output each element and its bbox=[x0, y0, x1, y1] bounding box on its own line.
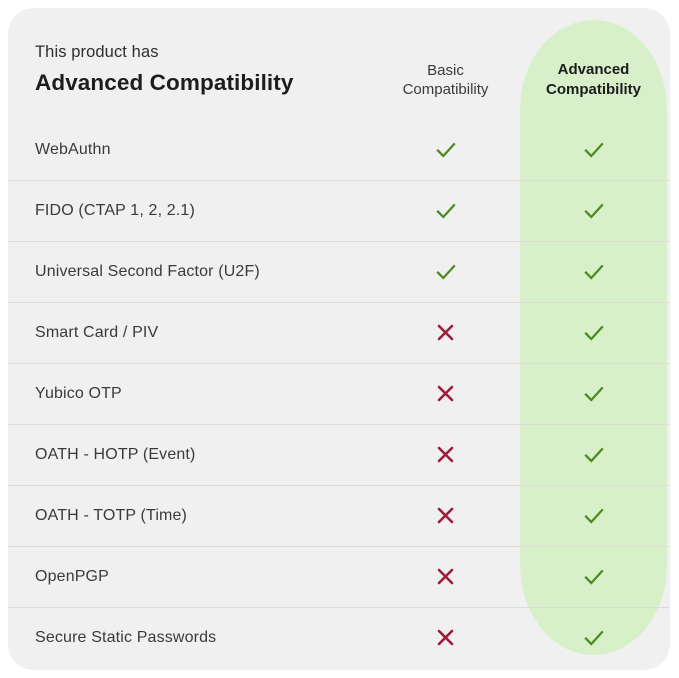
advanced-support-cell bbox=[520, 547, 667, 607]
feature-label: Secure Static Passwords bbox=[35, 608, 216, 668]
column-header-basic-line1: Basic bbox=[368, 61, 523, 80]
check-icon bbox=[583, 263, 605, 280]
advanced-support-cell bbox=[520, 608, 667, 668]
basic-support-cell bbox=[368, 120, 523, 180]
basic-support-cell bbox=[368, 303, 523, 363]
cross-icon bbox=[436, 324, 455, 341]
check-icon bbox=[435, 202, 457, 219]
cross-icon bbox=[436, 568, 455, 585]
basic-support-cell bbox=[368, 486, 523, 546]
feature-label: OpenPGP bbox=[35, 547, 109, 607]
column-header-basic: Basic Compatibility bbox=[368, 61, 523, 99]
cross-icon bbox=[436, 385, 455, 402]
feature-label: Smart Card / PIV bbox=[35, 303, 158, 363]
table-row: Smart Card / PIV bbox=[8, 302, 670, 363]
advanced-support-cell bbox=[520, 425, 667, 485]
basic-support-cell bbox=[368, 181, 523, 241]
feature-label: OATH - HOTP (Event) bbox=[35, 425, 196, 485]
comparison-card: This product has Advanced Compatibility … bbox=[8, 8, 670, 670]
check-icon bbox=[583, 141, 605, 158]
table-header: This product has Advanced Compatibility … bbox=[8, 8, 670, 120]
feature-label: OATH - TOTP (Time) bbox=[35, 486, 187, 546]
advanced-support-cell bbox=[520, 364, 667, 424]
comparison-table-canvas: This product has Advanced Compatibility … bbox=[0, 0, 679, 678]
cross-icon bbox=[436, 507, 455, 524]
column-header-advanced-line1: Advanced bbox=[520, 60, 667, 80]
title-kicker: This product has bbox=[35, 41, 365, 64]
page-title: Advanced Compatibility bbox=[35, 67, 365, 98]
advanced-support-cell bbox=[520, 303, 667, 363]
basic-support-cell bbox=[368, 242, 523, 302]
column-header-advanced: Advanced Compatibility bbox=[520, 60, 667, 100]
feature-label: Universal Second Factor (U2F) bbox=[35, 242, 260, 302]
card-content: This product has Advanced Compatibility … bbox=[8, 8, 670, 670]
table-row: Yubico OTP bbox=[8, 363, 670, 424]
column-header-advanced-line2: Compatibility bbox=[520, 80, 667, 100]
table-row: OATH - HOTP (Event) bbox=[8, 424, 670, 485]
check-icon bbox=[583, 507, 605, 524]
check-icon bbox=[435, 263, 457, 280]
table-row: OATH - TOTP (Time) bbox=[8, 485, 670, 546]
table-row: Secure Static Passwords bbox=[8, 607, 670, 668]
basic-support-cell bbox=[368, 608, 523, 668]
advanced-support-cell bbox=[520, 181, 667, 241]
basic-support-cell bbox=[368, 364, 523, 424]
advanced-support-cell bbox=[520, 486, 667, 546]
check-icon bbox=[583, 202, 605, 219]
cross-icon bbox=[436, 629, 455, 646]
advanced-support-cell bbox=[520, 120, 667, 180]
feature-rows: WebAuthnFIDO (CTAP 1, 2, 2.1)Universal S… bbox=[8, 120, 670, 668]
advanced-support-cell bbox=[520, 242, 667, 302]
basic-support-cell bbox=[368, 547, 523, 607]
table-row: WebAuthn bbox=[8, 120, 670, 180]
table-row: FIDO (CTAP 1, 2, 2.1) bbox=[8, 180, 670, 241]
check-icon bbox=[583, 324, 605, 341]
check-icon bbox=[583, 385, 605, 402]
cross-icon bbox=[436, 446, 455, 463]
feature-label: WebAuthn bbox=[35, 120, 111, 180]
column-header-basic-line2: Compatibility bbox=[368, 80, 523, 99]
basic-support-cell bbox=[368, 425, 523, 485]
check-icon bbox=[583, 629, 605, 646]
table-row: Universal Second Factor (U2F) bbox=[8, 241, 670, 302]
check-icon bbox=[583, 446, 605, 463]
check-icon bbox=[583, 568, 605, 585]
table-row: OpenPGP bbox=[8, 546, 670, 607]
title-block: This product has Advanced Compatibility bbox=[35, 41, 365, 98]
feature-label: Yubico OTP bbox=[35, 364, 122, 424]
feature-label: FIDO (CTAP 1, 2, 2.1) bbox=[35, 181, 195, 241]
check-icon bbox=[435, 141, 457, 158]
